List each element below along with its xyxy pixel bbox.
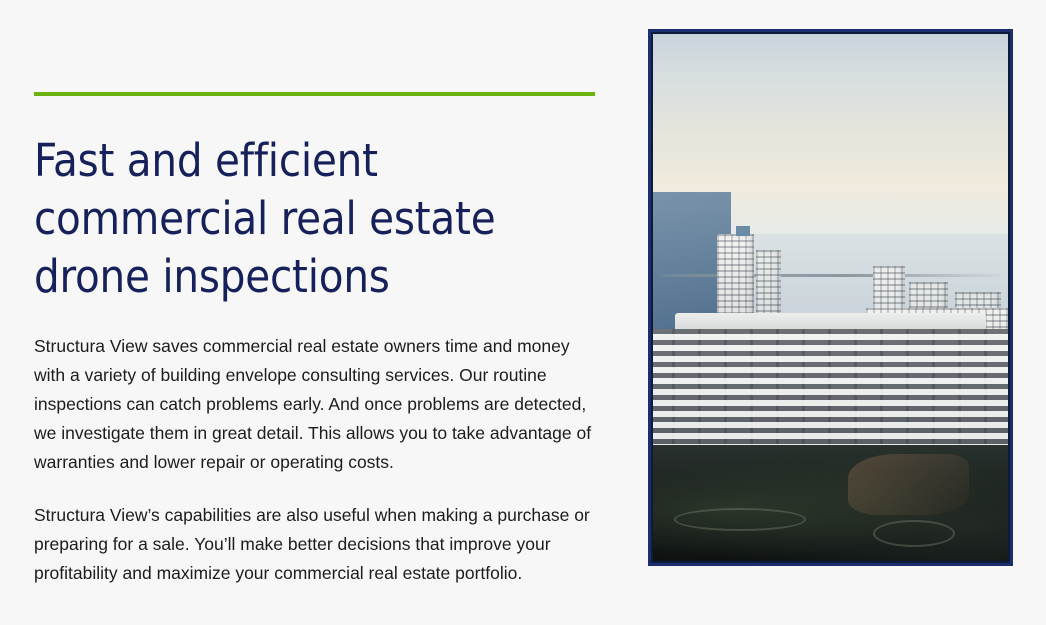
body-paragraph: Structura View’s capabilities are also u…: [34, 501, 596, 588]
building-photo: [653, 34, 1008, 561]
marketing-section: Fast and efficient commercial real estat…: [0, 0, 1046, 625]
photo-frame: [648, 29, 1013, 566]
walkway-path: [674, 508, 806, 531]
page-title: Fast and efficient commercial real estat…: [34, 132, 534, 306]
landscaped-grounds: [653, 445, 1008, 561]
walkway-path: [873, 520, 955, 547]
body-paragraph: Structura View saves commercial real est…: [34, 332, 596, 477]
causeway-bridge: [660, 274, 1001, 277]
text-column: Fast and efficient commercial real estat…: [34, 92, 596, 588]
green-accent-rule: [34, 92, 595, 96]
